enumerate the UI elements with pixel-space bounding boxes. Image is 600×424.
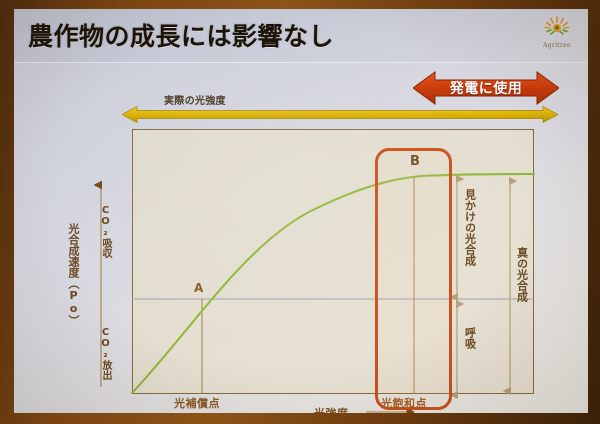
- x-axis-title: 光強度: [314, 405, 349, 413]
- presentation-slide: 農作物の成長には影響なし: [14, 9, 588, 413]
- y-axis-title: 光合成速度（Po）: [68, 223, 79, 326]
- photo-frame: 農作物の成長には影響なし: [0, 0, 600, 424]
- co2-release-label: CO₂放出: [100, 327, 110, 380]
- true-photosynthesis-label: 真の光合成: [516, 247, 528, 302]
- photosynthesis-chart: 光合成速度（Po） CO₂吸収 CO₂放出 光強度 光補償点 光飽和点 A B …: [14, 9, 588, 413]
- co2-uptake-label: CO₂吸収: [100, 205, 110, 258]
- light-compensation-point-label: 光補償点: [174, 395, 220, 411]
- apparent-photosynthesis-label: 見かけの光合成: [464, 189, 476, 266]
- point-a-label: A: [194, 281, 203, 295]
- saturation-highlight-box: [375, 148, 452, 410]
- respiration-label: 呼吸: [464, 327, 476, 349]
